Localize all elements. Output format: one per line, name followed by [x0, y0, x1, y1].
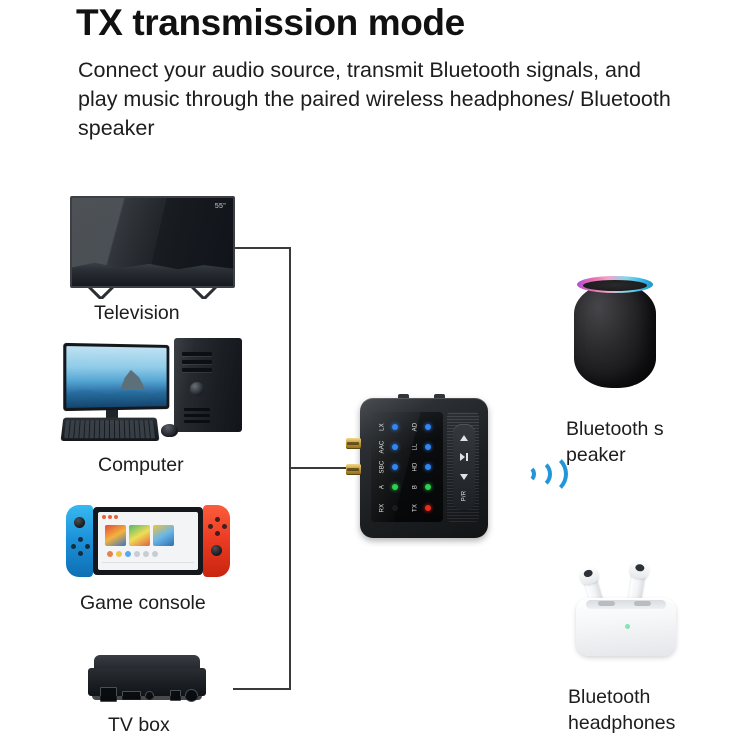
tower-vent [184, 420, 210, 423]
charging-case-led [625, 624, 630, 629]
speaker-body [574, 284, 656, 388]
switch-screen [93, 507, 203, 575]
rca-connector-left [346, 438, 361, 449]
connector-line-device [289, 467, 346, 469]
joycon-left [66, 505, 93, 577]
led-indicator [392, 424, 398, 430]
led-indicator [425, 464, 431, 470]
led-label: SBC [379, 461, 385, 474]
led-label: A [379, 481, 385, 494]
play-pause-icon [460, 453, 468, 461]
source-game-console [66, 505, 230, 577]
earbud-left-tip [577, 564, 600, 586]
connector-line-tvbox [233, 688, 291, 690]
tower-drive-bay [182, 360, 212, 364]
play-pause-button[interactable] [457, 450, 471, 464]
led-row: B [409, 479, 439, 496]
source-television: 55" [70, 196, 235, 288]
pair-reset-button[interactable]: P/R [457, 489, 471, 503]
led-label: AD [412, 420, 418, 433]
volume-down-button[interactable] [457, 470, 471, 484]
switch-home-ui [98, 512, 198, 570]
television-size-badge: 55" [215, 203, 226, 210]
label-bluetooth-speaker: Bluetooth s peaker [566, 416, 664, 468]
bluetooth-signal-icon [516, 448, 552, 492]
game-tile [153, 525, 174, 546]
keyboard-keys [64, 420, 156, 438]
connector-line-television [233, 247, 291, 249]
source-computer [62, 338, 242, 446]
game-tile [129, 525, 150, 546]
switch-menu-icons [107, 551, 158, 557]
device-led-panel: LX AAC SBC A [371, 412, 443, 522]
led-label: LL [412, 440, 418, 453]
tower-drive-bay [182, 368, 212, 372]
led-row: A [376, 479, 406, 496]
computer-monitor [63, 343, 169, 411]
led-column-right: AD LL HD B [409, 418, 439, 516]
led-row: AAC [376, 438, 406, 455]
computer-mouse [161, 424, 178, 437]
switch-game-tiles [105, 525, 174, 546]
tower-drive-bay [182, 352, 212, 356]
led-row: SBC [376, 459, 406, 476]
charging-case [576, 598, 676, 656]
led-indicator [392, 464, 398, 470]
tower-power-button [190, 382, 204, 396]
computer-keyboard [61, 418, 160, 441]
wallpaper-water [66, 386, 166, 408]
television-foot-right [191, 288, 217, 299]
output-bluetooth-speaker [568, 276, 662, 391]
led-row: HD [409, 459, 439, 476]
source-tv-box [88, 655, 206, 703]
charging-case-slot [634, 601, 651, 606]
signal-arc-outer [526, 453, 568, 495]
led-row: TX [409, 499, 439, 516]
led-indicator [392, 444, 398, 450]
rca-connector-right [346, 464, 361, 475]
label-television: Television [94, 300, 180, 326]
joycon-right [203, 505, 230, 577]
volume-up-button[interactable] [457, 431, 471, 445]
led-label: TX [412, 501, 418, 514]
earbud-right-tip [629, 560, 650, 580]
led-indicator [392, 505, 398, 511]
game-tile [105, 525, 126, 546]
label-bluetooth-headphones: Bluetooth headphones [568, 684, 675, 736]
label-tv-box: TV box [108, 712, 170, 738]
pair-button-label: P/R [461, 491, 467, 502]
television-screen: 55" [70, 196, 235, 288]
speaker-top-surface [583, 280, 647, 291]
device-body: LX AAC SBC A [360, 398, 488, 538]
switch-user-icons [102, 515, 118, 519]
led-indicator [425, 505, 431, 511]
computer-monitor-screen [66, 346, 166, 408]
led-row: AD [409, 418, 439, 435]
led-indicator [425, 484, 431, 490]
led-indicator [425, 424, 431, 430]
led-label: RX [379, 501, 385, 514]
device-button-strip[interactable]: P/R [453, 424, 475, 510]
joycon-left-stick [74, 517, 85, 528]
tower-vent [184, 408, 210, 411]
bluetooth-transmitter-device: LX AAC SBC A [360, 398, 488, 538]
led-indicator [392, 484, 398, 490]
led-label: LX [379, 420, 385, 433]
tvbox-rear-panel [88, 668, 206, 696]
led-row: LX [376, 418, 406, 435]
led-label: B [412, 481, 418, 494]
tvbox-base-shadow [92, 696, 202, 700]
charging-case-slot [598, 601, 615, 606]
computer-tower [174, 338, 242, 432]
joycon-right-stick [211, 545, 222, 556]
output-bluetooth-headphones [572, 552, 680, 662]
wallpaper-rock [120, 370, 146, 390]
switch-status-bar [102, 562, 194, 567]
television-foot-left [88, 288, 114, 299]
led-row: LL [409, 438, 439, 455]
led-label: AAC [379, 440, 385, 453]
label-computer: Computer [98, 452, 184, 478]
infographic-canvas: TX transmission mode Connect your audio … [0, 0, 750, 750]
led-label: HD [412, 461, 418, 474]
page-title: TX transmission mode [76, 2, 465, 44]
led-column-left: LX AAC SBC A [376, 418, 406, 516]
triangle-down-icon [460, 474, 468, 480]
triangle-up-icon [460, 435, 468, 441]
page-description: Connect your audio source, transmit Blue… [78, 56, 678, 143]
tower-vent [184, 414, 210, 417]
led-row: RX [376, 499, 406, 516]
label-game-console: Game console [80, 590, 206, 616]
led-indicator [425, 444, 431, 450]
